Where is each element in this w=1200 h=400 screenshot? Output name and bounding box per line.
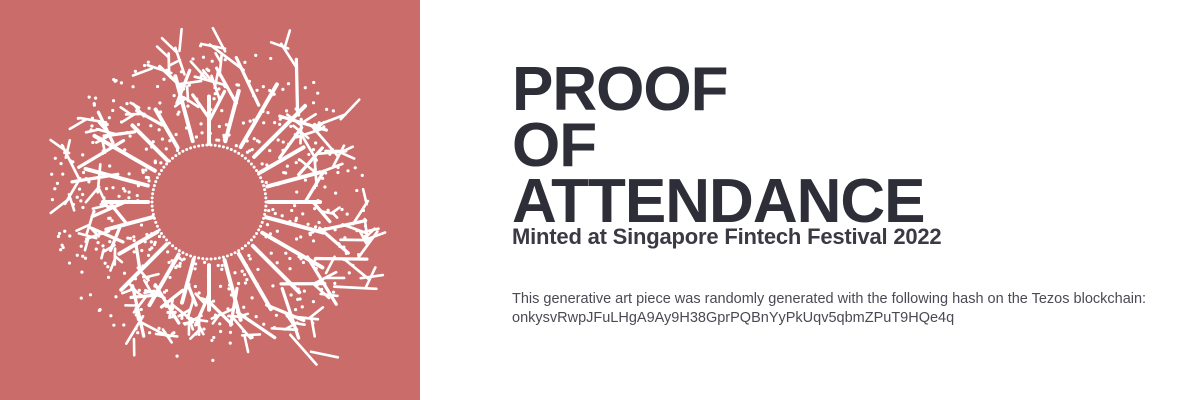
title-line-3: ATTENDANCE: [512, 174, 1152, 230]
description-text: This generative art piece was randomly g…: [512, 290, 1172, 309]
title-line-1: PROOF: [512, 62, 1152, 118]
radial-branch-artwork: [0, 0, 420, 400]
proof-of-attendance-card: PROOF OF ATTENDANCE Minted at Singapore …: [0, 0, 1200, 400]
page-title: PROOF OF ATTENDANCE: [512, 62, 1152, 230]
transaction-hash: onkysvRwpJFuLHgA9Ay9H38GprPQBnYyPkUqv5qb…: [512, 309, 1172, 328]
description-block: This generative art piece was randomly g…: [512, 290, 1172, 328]
content-panel: PROOF OF ATTENDANCE Minted at Singapore …: [420, 0, 1200, 400]
event-subtitle: Minted at Singapore Fintech Festival 202…: [512, 224, 941, 250]
title-line-2: OF: [512, 118, 1152, 174]
artwork-panel: [0, 0, 420, 400]
